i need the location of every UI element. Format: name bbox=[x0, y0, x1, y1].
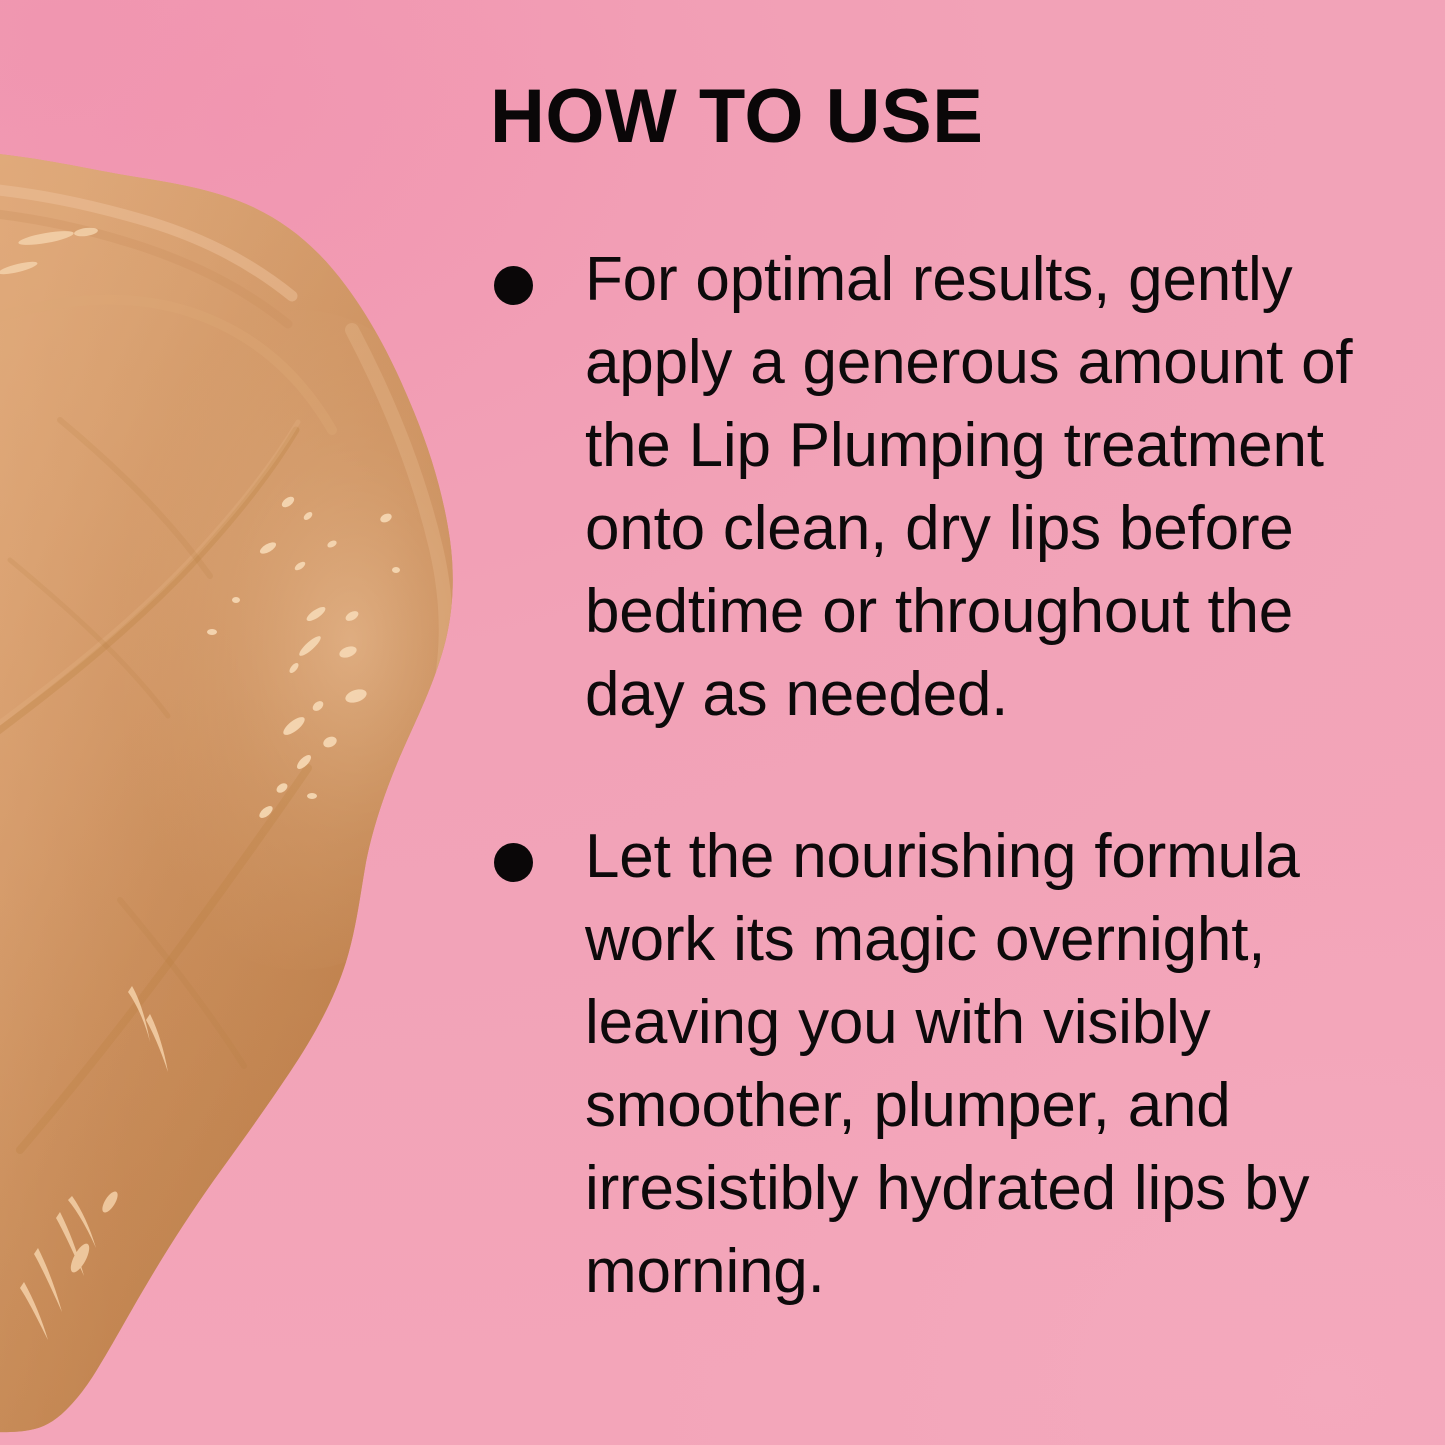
instruction-list: For optimal results, gently apply a gene… bbox=[487, 238, 1387, 1313]
how-to-use-graphic: HOW TO USE For optimal results, gently a… bbox=[0, 0, 1445, 1445]
list-item: For optimal results, gently apply a gene… bbox=[487, 238, 1387, 736]
bullet-dot-icon bbox=[494, 843, 533, 882]
bullet-dot-icon bbox=[494, 266, 533, 305]
instruction-text: Let the nourishing formula work its magi… bbox=[585, 815, 1387, 1313]
list-item: Let the nourishing formula work its magi… bbox=[487, 815, 1387, 1313]
text-column: HOW TO USE For optimal results, gently a… bbox=[487, 0, 1387, 1445]
page-title: HOW TO USE bbox=[490, 74, 983, 160]
instruction-text: For optimal results, gently apply a gene… bbox=[585, 238, 1387, 736]
